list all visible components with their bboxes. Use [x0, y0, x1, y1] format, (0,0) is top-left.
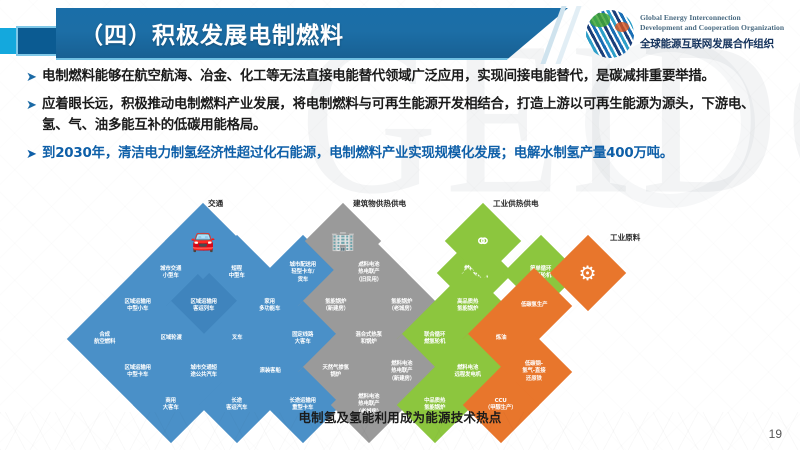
- diagram-cell-label: 低碳钢- 氢气-直接 还原铁: [507, 361, 561, 383]
- bullet-item: ➤电制燃料能够在航空航海、冶金、化工等无法直接电能替代领域广泛应用，实现间接电能…: [26, 66, 778, 87]
- diagram-section-label: 交通: [208, 198, 223, 209]
- diagram-cell-label: 氢能锅炉 （新建房）: [309, 299, 363, 314]
- diagram-cell-label: 区域运输用 中型小车: [111, 299, 165, 314]
- bullet-text: 到2030年，清洁电力制氢经济性超过化石能源，电制燃料产业实现规模化发展；电解水…: [42, 143, 673, 164]
- diagram-cell-label: 短程 中型车: [210, 266, 264, 281]
- diagram-cell-label: 高品质热 氢能锅炉: [441, 299, 495, 314]
- diagram-cell-label: 混合式热泵 和锅炉: [342, 332, 396, 347]
- logo-line-2: Development and Cooperation Organization: [640, 23, 798, 33]
- bullet-marker-icon: ➤: [26, 94, 42, 136]
- diagram-cell-label: 区域运输用 中型卡车: [111, 365, 165, 380]
- diagram-cell-label: 氢能锅炉 （老城房）: [375, 299, 429, 314]
- diagram-cell-label: 天然气掺氢 锅炉: [309, 365, 363, 380]
- diagram-caption: 电制氢及氢能利用成为能源技术热点: [0, 408, 800, 426]
- globe-logo-icon: [586, 10, 634, 58]
- diagram-section-label: 工业原料: [610, 232, 640, 243]
- bullet-marker-icon: ➤: [26, 66, 42, 87]
- organization-logo-text: Global Energy Interconnection Developmen…: [640, 13, 798, 51]
- bullet-marker-icon: ➤: [26, 143, 42, 164]
- page-number: 19: [769, 427, 782, 441]
- page-title: （四）积极发展电制燃料: [80, 16, 344, 50]
- diagram-cell-label: 燃料电池 远程发电机: [441, 365, 495, 380]
- diagram-cell-label: 合成 航空燃料: [78, 332, 132, 347]
- diagram-cell-label: 城市交通 小型车: [144, 266, 198, 281]
- diagram-cell-label: 家用 多功能车: [243, 299, 297, 314]
- car-icon-glyph: 🚘: [191, 229, 216, 254]
- gear-icon-glyph: ⚙: [579, 261, 597, 286]
- diagram-cell-label: 区域运输用 客运列车: [177, 299, 231, 314]
- diagram-cell-label: 城市交通短 途公共汽车: [177, 365, 231, 380]
- diagram-cell-label: 联合循环 燃氢轮机: [408, 332, 462, 347]
- slide-header: （四）积极发展电制燃料 Global Energy Interconnectio…: [0, 0, 800, 70]
- logo-line-1: Global Energy Interconnection: [640, 13, 798, 23]
- building-icon-glyph: 🏢: [331, 229, 356, 254]
- logo-chinese-name: 全球能源互联网发展合作组织: [640, 36, 798, 51]
- diagram-cell-label: 区域轮渡: [144, 335, 198, 342]
- diagram-cell-label: 固定线路 大客车: [276, 332, 330, 347]
- bullet-text: 应着眼长远，积极推动电制燃料产业发展，将电制燃料与可再生能源开发相结合，打造上游…: [42, 94, 778, 136]
- hydrogen-application-diamond-diagram: 城市交通 小型车短程 中型车城市配送用 轻型卡车/ 货车燃料电池 热电联产 （旧…: [148, 196, 668, 408]
- diagram-cell-label: 滚装客船: [243, 368, 297, 375]
- diagram-cell-label: 炼油: [474, 335, 528, 342]
- bullet-text: 电制燃料能够在航空航海、冶金、化工等无法直接电能替代领域广泛应用，实现间接电能替…: [42, 66, 715, 87]
- header-accent-block: [16, 26, 62, 56]
- bullet-item: ➤到2030年，清洁电力制氢经济性超过化石能源，电制燃料产业实现规模化发展；电解…: [26, 143, 778, 164]
- molecule-icon-glyph: ⚭: [475, 228, 492, 253]
- bullet-item: ➤应着眼长远，积极推动电制燃料产业发展，将电制燃料与可再生能源开发相结合，打造上…: [26, 94, 778, 136]
- diagram-section-label: 工业供热供电: [493, 198, 539, 209]
- diagram-cell-label: 叉车: [210, 335, 264, 342]
- bullet-list: ➤电制燃料能够在航空航海、冶金、化工等无法直接电能替代领域广泛应用，实现间接电能…: [26, 66, 778, 171]
- diagram-cell-label: 低碳氢生产: [507, 302, 561, 309]
- diagram-section-label: 建筑物供热供电: [353, 198, 406, 209]
